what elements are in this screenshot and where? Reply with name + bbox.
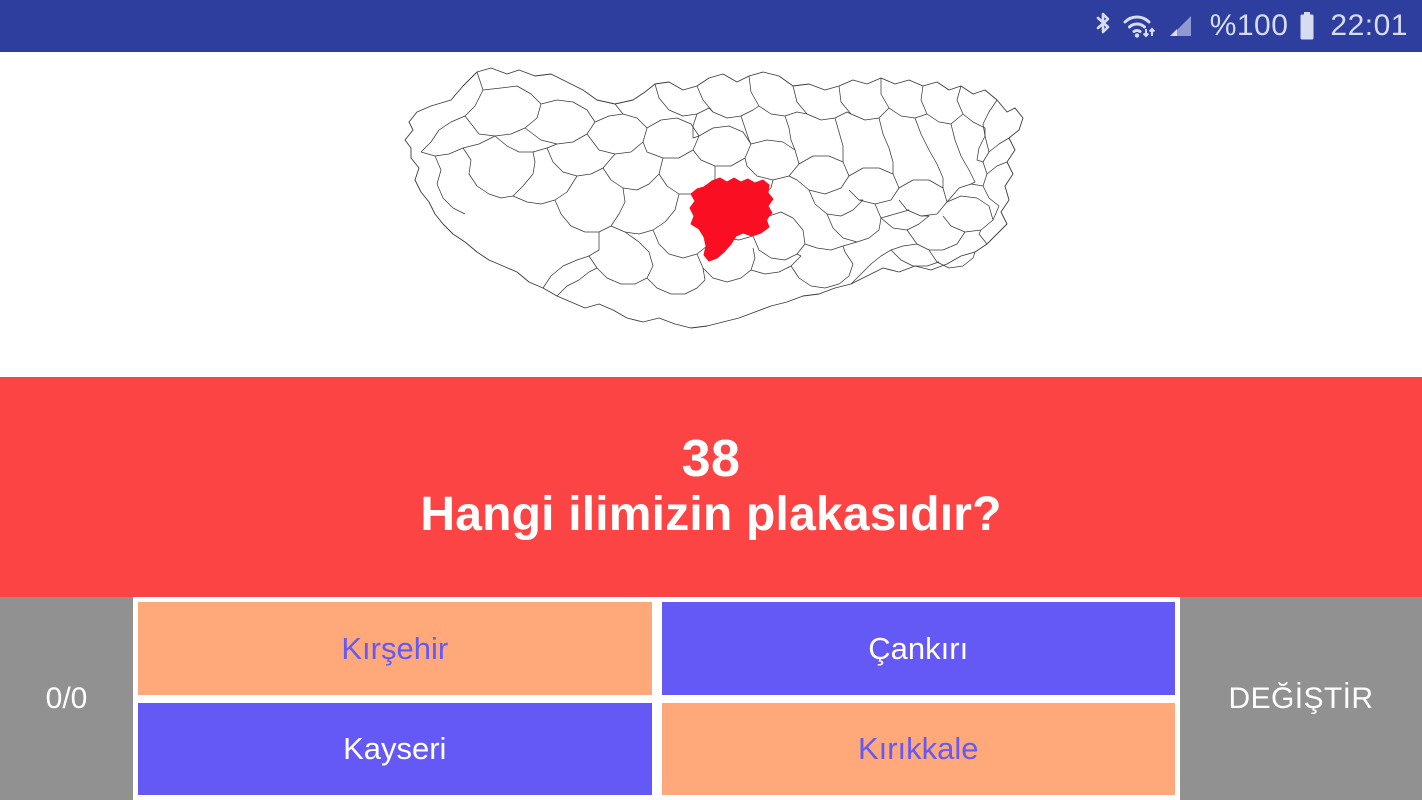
answer-option-2-label: Çankırı <box>868 633 968 664</box>
answer-option-4-label: Kırıkkale <box>858 733 979 764</box>
question-number: 38 <box>682 432 741 487</box>
answer-option-1-label: Kırşehir <box>341 633 448 664</box>
status-bar-icons: %100 22:01 <box>1093 10 1408 42</box>
answer-options-grid: Kırşehir Çankırı Kayseri Kırıkkale <box>133 597 1180 800</box>
change-button[interactable]: DEĞİŞTİR <box>1180 597 1422 800</box>
question-prompt: Hangi ilimizin plakasıdır? <box>420 489 1001 542</box>
turkey-provinces-map <box>391 56 1031 346</box>
battery-percent-label: %100 <box>1210 11 1289 41</box>
score-display: 0/0 <box>0 597 133 800</box>
answer-area: 0/0 Kırşehir Çankırı Kayseri Kırıkkale D… <box>0 597 1422 800</box>
question-band: 38 Hangi ilimizin plakasıdır? <box>0 377 1422 597</box>
answer-option-1[interactable]: Kırşehir <box>138 602 652 695</box>
answer-option-2[interactable]: Çankırı <box>662 602 1176 695</box>
answer-option-3-label: Kayseri <box>343 733 446 764</box>
status-bar: %100 22:01 <box>0 0 1422 52</box>
change-button-label: DEĞİŞTİR <box>1229 682 1374 716</box>
clock-label: 22:01 <box>1330 11 1408 41</box>
answer-option-3[interactable]: Kayseri <box>138 703 652 796</box>
battery-full-icon <box>1297 10 1317 42</box>
map-panel <box>0 52 1422 377</box>
score-label: 0/0 <box>46 682 88 716</box>
signal-icon <box>1165 11 1195 41</box>
bluetooth-icon <box>1093 11 1113 41</box>
answer-option-4[interactable]: Kırıkkale <box>662 703 1176 796</box>
wifi-icon <box>1122 11 1156 41</box>
